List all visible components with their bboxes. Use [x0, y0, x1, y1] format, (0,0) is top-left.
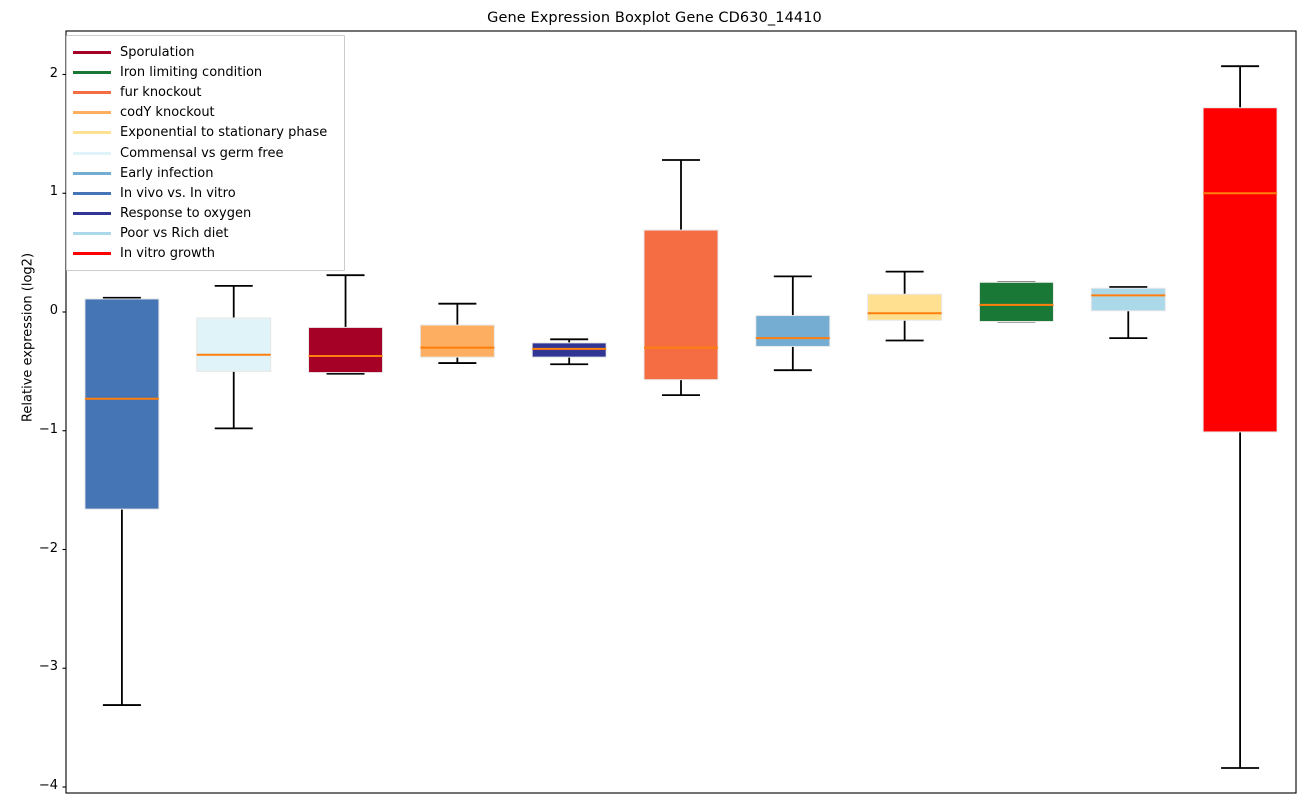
box-iqr[interactable] [309, 327, 383, 372]
legend-item[interactable]: In vivo vs. In vitro [67, 183, 344, 203]
legend-item[interactable]: Response to oxygen [67, 204, 344, 224]
legend-color-swatch [73, 212, 111, 215]
boxplot-box[interactable] [868, 272, 942, 341]
box-iqr[interactable] [197, 318, 271, 371]
legend-color-swatch [73, 131, 111, 134]
legend-item[interactable]: Sporulation [67, 42, 344, 62]
boxplot-box[interactable] [197, 286, 271, 429]
legend-color-swatch [73, 232, 111, 235]
box-iqr[interactable] [644, 230, 718, 380]
legend-item-label: codY knockout [120, 106, 215, 119]
legend-item[interactable]: Commensal vs germ free [67, 143, 344, 163]
box-iqr[interactable] [868, 294, 942, 320]
legend-color-swatch [73, 51, 111, 54]
box-iqr[interactable] [85, 299, 159, 509]
boxplot-box[interactable] [644, 160, 718, 395]
legend-item[interactable]: In vitro growth [67, 244, 344, 264]
legend-item-label: In vitro growth [120, 247, 215, 260]
boxplot-box[interactable] [309, 275, 383, 374]
box-iqr[interactable] [979, 282, 1053, 321]
legend-color-swatch [73, 252, 111, 255]
legend-item-label: In vivo vs. In vitro [120, 187, 236, 200]
legend-color-swatch [73, 152, 111, 155]
legend-item-label: Iron limiting condition [120, 66, 262, 79]
legend-item[interactable]: codY knockout [67, 103, 344, 123]
legend-item[interactable]: Exponential to stationary phase [67, 123, 344, 143]
legend-color-swatch [73, 172, 111, 175]
legend-item[interactable]: fur knockout [67, 82, 344, 102]
legend-item-label: Response to oxygen [120, 207, 251, 220]
boxplot-box[interactable] [85, 298, 159, 705]
box-iqr[interactable] [1091, 288, 1165, 311]
boxplot-box[interactable] [532, 339, 606, 364]
legend-item-label: Exponential to stationary phase [120, 126, 327, 139]
legend-color-swatch [73, 192, 111, 195]
boxplot-box[interactable] [1203, 66, 1277, 768]
legend-item[interactable]: Early infection [67, 163, 344, 183]
legend-item-label: fur knockout [120, 86, 202, 99]
legend: SporulationIron limiting conditionfur kn… [66, 35, 345, 271]
legend-color-swatch [73, 91, 111, 94]
chart-figure: Gene Expression Boxplot Gene CD630_14410… [0, 0, 1309, 812]
box-iqr[interactable] [532, 343, 606, 357]
legend-color-swatch [73, 111, 111, 114]
boxplot-box[interactable] [756, 276, 830, 370]
legend-item[interactable]: Poor vs Rich diet [67, 224, 344, 244]
boxplot-box[interactable] [420, 304, 494, 363]
legend-item-label: Poor vs Rich diet [120, 227, 228, 240]
box-iqr[interactable] [756, 316, 830, 347]
legend-item-label: Sporulation [120, 46, 195, 59]
legend-color-swatch [73, 71, 111, 74]
boxplot-box[interactable] [1091, 287, 1165, 338]
box-iqr[interactable] [420, 325, 494, 357]
box-iqr[interactable] [1203, 108, 1277, 432]
legend-item-label: Early infection [120, 167, 213, 180]
boxplot-box[interactable] [979, 282, 1053, 321]
legend-item[interactable]: Iron limiting condition [67, 62, 344, 82]
legend-item-label: Commensal vs germ free [120, 147, 283, 160]
